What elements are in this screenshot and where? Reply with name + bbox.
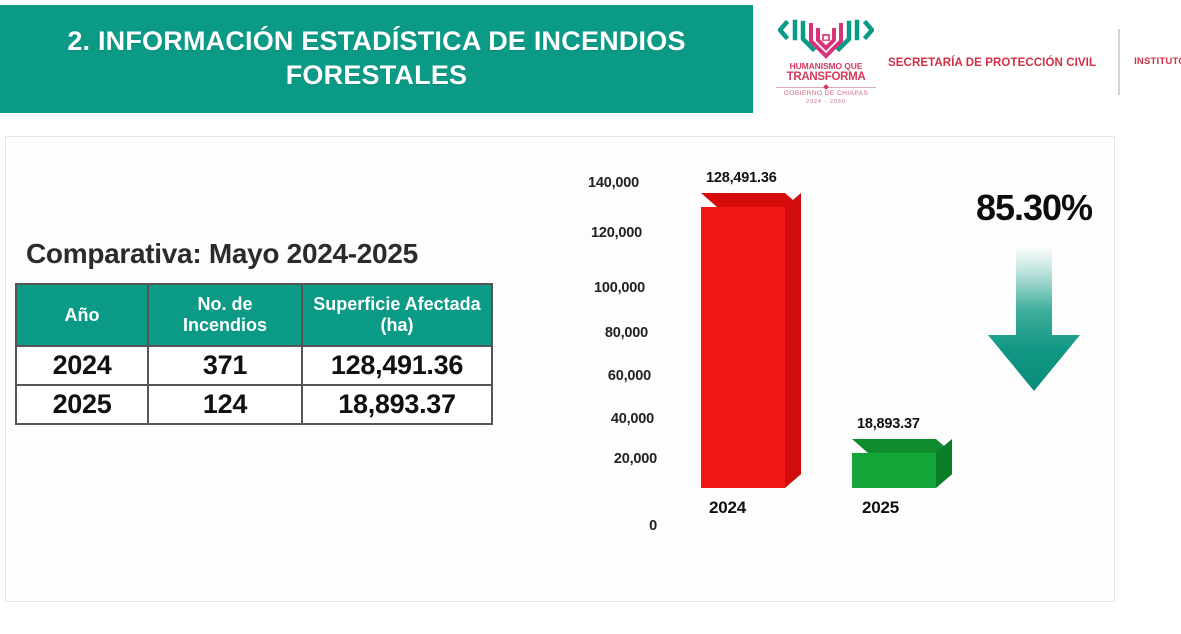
bar-chart: 140,000 120,000 100,000 80,000 60,000 40… bbox=[561, 163, 981, 583]
y-axis-tick: 80,000 bbox=[570, 325, 648, 341]
table-row: 2025 124 18,893.37 bbox=[16, 385, 492, 424]
bar-value-2025: 18,893.37 bbox=[857, 416, 920, 432]
reduction-indicator: 85.30% bbox=[954, 187, 1114, 399]
down-arrow-wrapper bbox=[954, 239, 1114, 399]
x-axis-tick-2024: 2024 bbox=[709, 498, 746, 518]
cell-year-2024: 2024 bbox=[16, 346, 148, 385]
logo-years: 2024 - 2030 bbox=[770, 99, 882, 105]
cell-year-2025: 2025 bbox=[16, 385, 148, 424]
comparison-table: Año No. de Incendios Superficie Afectada… bbox=[15, 283, 493, 425]
bar-2025 bbox=[852, 439, 952, 488]
cell-incendios-2024: 371 bbox=[148, 346, 302, 385]
cell-superficie-2024: 128,491.36 bbox=[302, 346, 492, 385]
bar-2024 bbox=[701, 193, 801, 488]
y-axis-tick: 140,000 bbox=[561, 175, 639, 191]
institute-label: INSTITUTO PARA LA GESTIÓN INTEGRAL DE RI… bbox=[1134, 55, 1181, 69]
table-title: Comparativa: Mayo 2024-2025 bbox=[26, 238, 418, 270]
title-banner: 2. INFORMACIÓN ESTADÍSTICA DE INCENDIOS … bbox=[0, 5, 753, 113]
y-axis-tick: 100,000 bbox=[567, 280, 645, 296]
cell-superficie-2025: 18,893.37 bbox=[302, 385, 492, 424]
y-axis-tick: 120,000 bbox=[564, 225, 642, 241]
content-panel: Comparativa: Mayo 2024-2025 Año No. de I… bbox=[5, 136, 1115, 602]
x-axis-tick-2025: 2025 bbox=[862, 498, 899, 518]
table-header-superficie: Superficie Afectada (ha) bbox=[302, 284, 492, 346]
bar-2025-top-face bbox=[852, 439, 952, 453]
branding-divider bbox=[1118, 29, 1120, 95]
y-axis-tick: 20,000 bbox=[579, 451, 657, 467]
bar-value-2024: 128,491.36 bbox=[706, 170, 777, 186]
y-axis-tick: 60,000 bbox=[573, 368, 651, 384]
branding-block: HUMANISMO QUE TRANSFORMA GOBIERNO DE CHI… bbox=[770, 14, 1170, 110]
cell-incendios-2025: 124 bbox=[148, 385, 302, 424]
y-axis-tick: 0 bbox=[579, 518, 657, 534]
arrow-down-icon bbox=[954, 239, 1114, 399]
reduction-percent: 85.30% bbox=[954, 187, 1114, 229]
page-title: 2. INFORMACIÓN ESTADÍSTICA DE INCENDIOS … bbox=[0, 25, 753, 93]
logo-subtitle: GOBIERNO DE CHIAPAS bbox=[770, 90, 882, 99]
table-header-year: Año bbox=[16, 284, 148, 346]
page-header: 2. INFORMACIÓN ESTADÍSTICA DE INCENDIOS … bbox=[0, 0, 1181, 122]
humanismo-mark-icon bbox=[778, 18, 874, 62]
bar-2025-front-face bbox=[852, 453, 936, 488]
table-header-row: Año No. de Incendios Superficie Afectada… bbox=[16, 284, 492, 346]
table-row: 2024 371 128,491.36 bbox=[16, 346, 492, 385]
bar-2024-side-face bbox=[785, 193, 801, 488]
gobierno-chiapas-logo: HUMANISMO QUE TRANSFORMA GOBIERNO DE CHI… bbox=[770, 16, 882, 108]
logo-name: HUMANISMO QUE TRANSFORMA bbox=[770, 62, 882, 84]
logo-name-line2: TRANSFORMA bbox=[787, 71, 866, 83]
y-axis-tick: 40,000 bbox=[576, 411, 654, 427]
logo-name-line1: HUMANISMO QUE bbox=[790, 61, 863, 71]
bar-2024-front-face bbox=[701, 207, 785, 488]
secretariat-label: SECRETARÍA DE PROTECCIÓN CIVIL bbox=[888, 52, 1096, 72]
table-header-incendios: No. de Incendios bbox=[148, 284, 302, 346]
bar-2024-top-face bbox=[701, 193, 801, 207]
logo-divider-rule bbox=[776, 87, 876, 88]
